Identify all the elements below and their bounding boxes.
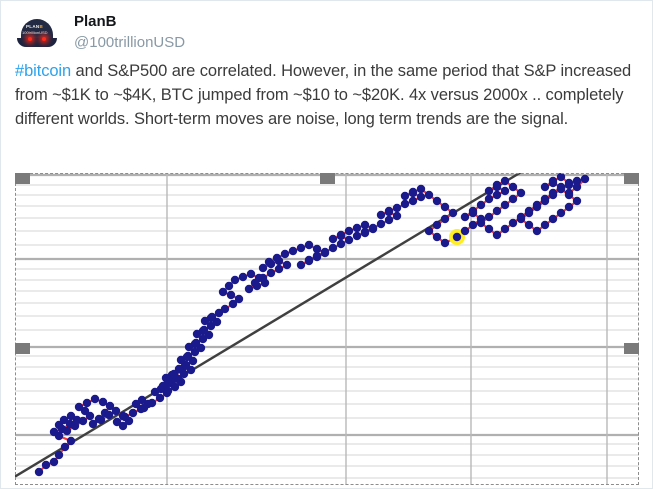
handle-middle-left[interactable] [15,343,30,354]
handle-middle-right[interactable] [624,343,639,354]
selection-outline [15,173,639,485]
tweet-header: PLANB 100trillionUSD PlanB @100trillionU… [1,1,652,53]
cap-brand-b: B [39,24,43,29]
cap-brim [17,38,57,47]
chart-container[interactable] [15,173,639,485]
handle-top-center[interactable] [320,173,335,184]
author-block: PlanB @100trillionUSD [74,11,185,53]
user-handle[interactable]: @100trillionUSD [74,34,185,53]
cap-led-left-icon [28,37,32,41]
cap-led-right-icon [42,37,46,41]
cap-brand-plan: PLAN [26,24,39,29]
cap-brand-text: PLANB [26,24,43,29]
display-name[interactable]: PlanB [74,13,185,32]
handle-top-left[interactable] [15,173,30,184]
tweet-card: PLANB 100trillionUSD PlanB @100trillionU… [0,0,653,489]
baseball-cap-icon: PLANB 100trillionUSD [17,19,57,49]
tweet-body-text: and S&P500 are correlated. However, in t… [15,62,631,128]
hashtag-link[interactable]: #bitcoin [15,62,71,80]
avatar[interactable]: PLANB 100trillionUSD [12,11,62,61]
handle-top-right[interactable] [624,173,639,184]
cap-handle-text: 100trillionUSD [22,30,48,35]
tweet-text: #bitcoin and S&P500 are correlated. Howe… [1,53,652,131]
